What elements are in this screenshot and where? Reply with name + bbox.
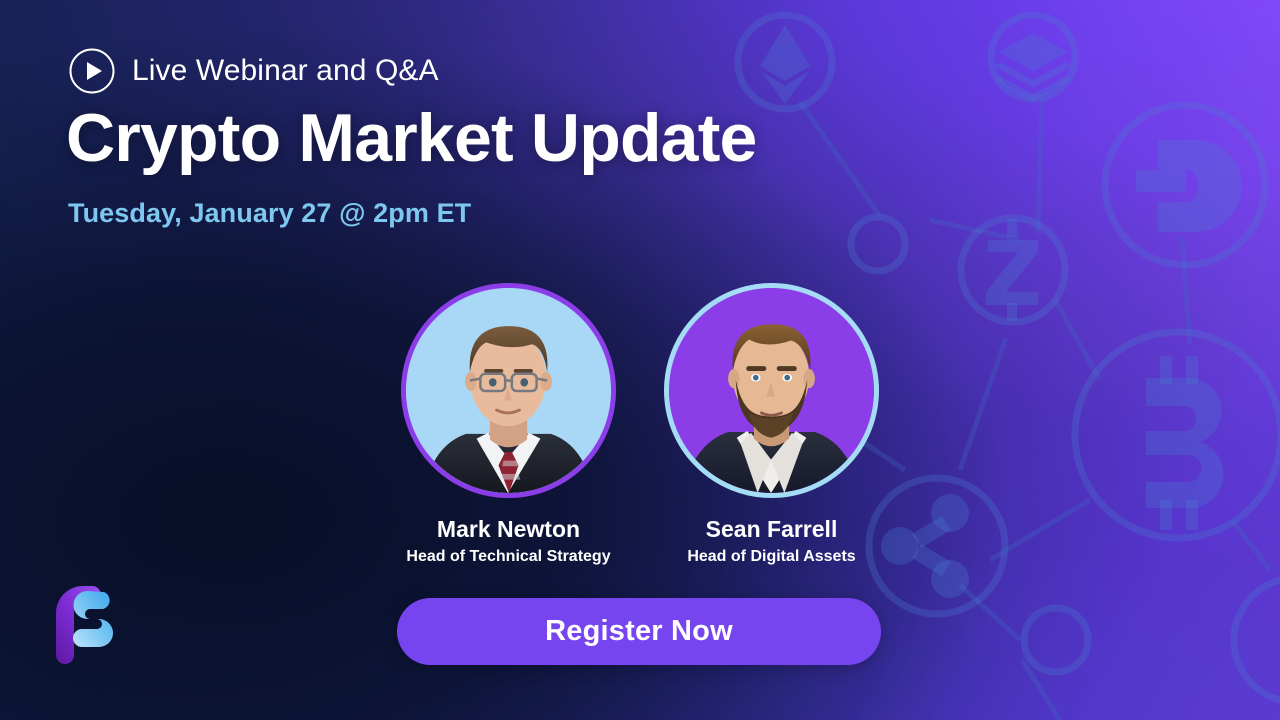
speaker-title: Head of Technical Strategy [406, 548, 610, 566]
register-now-button[interactable]: Register Now [397, 598, 881, 665]
play-circle-icon [68, 47, 116, 95]
speaker-name: Sean Farrell [706, 517, 838, 542]
page-title: Crypto Market Update [66, 104, 757, 172]
stacks-layers-icon [991, 15, 1075, 102]
empty-node-icon [851, 217, 905, 271]
ethereum-icon [738, 15, 832, 109]
speaker-name: Mark Newton [437, 517, 580, 542]
eyebrow-row: Live Webinar and Q&A [68, 47, 439, 95]
avatar-sean-farrell [664, 283, 879, 498]
dogecoin-icon [1105, 105, 1265, 265]
webinar-promo-poster: .nl { stroke:#3f6bc4; stroke-width:5; fi… [0, 0, 1280, 720]
avatar-photo [669, 288, 874, 493]
speaker-title: Head of Digital Assets [687, 548, 855, 566]
avatar-mark-newton [401, 283, 616, 498]
empty-node-icon [1024, 608, 1088, 672]
eyebrow-label: Live Webinar and Q&A [132, 56, 439, 86]
speaker-list: Mark Newton Head of Technical Strategy [0, 283, 1280, 566]
empty-node-icon [1234, 578, 1280, 702]
event-date: Tuesday, January 27 @ 2pm ET [68, 200, 471, 227]
speaker-card: Sean Farrell Head of Digital Assets [659, 283, 884, 566]
avatar-photo [406, 288, 611, 493]
fundstrat-fs-logo[interactable] [52, 582, 118, 668]
speaker-card: Mark Newton Head of Technical Strategy [396, 283, 621, 566]
